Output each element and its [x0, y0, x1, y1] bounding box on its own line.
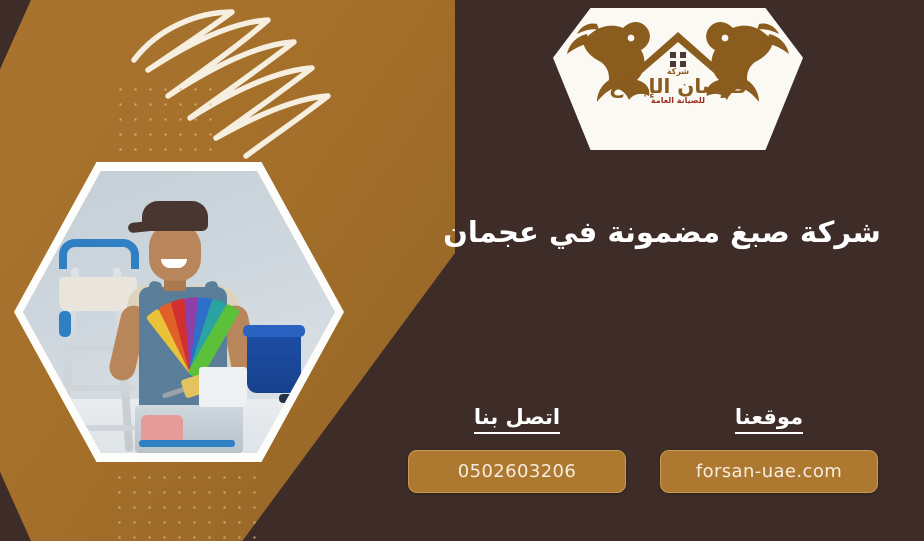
paint-bucket — [247, 331, 301, 393]
paint-pan — [135, 405, 243, 453]
logo-line-3: للصيانة العامة — [553, 97, 803, 105]
phone-button[interactable]: 0502603206 — [408, 450, 626, 493]
website-column: موقعنا forsan-uae.com — [660, 405, 878, 493]
phone-label-wrap: اتصل بنا — [408, 405, 626, 434]
contact-section: موقعنا forsan-uae.com اتصل بنا 050260320… — [408, 405, 878, 515]
logo-text-block: شركة فرسان الإبداع للصيانة العامة — [553, 68, 803, 105]
logo-line-2: فرسان الإبداع — [553, 76, 803, 96]
painter-smile — [161, 259, 187, 268]
company-logo[interactable]: شركة فرسان الإبداع للصيانة العامة — [553, 8, 803, 150]
paint-box — [199, 367, 247, 407]
website-label: موقعنا — [735, 405, 803, 434]
phone-label: اتصل بنا — [474, 405, 560, 434]
dot-grid-bottom — [112, 470, 260, 541]
phone-column: اتصل بنا 0502603206 — [408, 405, 626, 493]
ladder-grip — [59, 311, 71, 337]
painter-photo — [14, 162, 344, 462]
painter-figure — [109, 201, 259, 453]
website-button[interactable]: forsan-uae.com — [660, 450, 878, 493]
headline-text: شركة صبغ مضمونة في عجمان — [442, 212, 882, 253]
promo-banner: شركة فرسان الإبداع للصيانة العامة شركة ص… — [0, 0, 924, 541]
website-label-wrap: موقعنا — [660, 405, 878, 434]
pan-stripe — [139, 440, 235, 447]
painter-cap — [142, 201, 208, 231]
painter-head — [149, 223, 201, 281]
dot-grid-top — [113, 82, 218, 160]
